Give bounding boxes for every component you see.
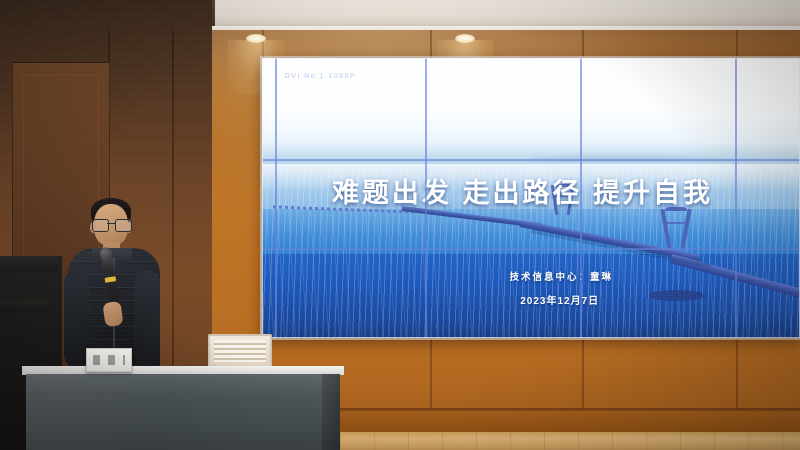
lectern-top: [0, 256, 58, 272]
video-wall-bezel-v1: [275, 58, 277, 338]
ceiling-downlight-2: [455, 34, 475, 43]
slide-title: 难题出发 走出路径 提升自我: [332, 171, 800, 210]
name-card: [86, 348, 132, 372]
chair-backrest: [208, 334, 272, 368]
video-wall-bezel-v2: [425, 58, 427, 338]
lcd-video-wall[interactable]: DVI No.1 1080P 难题出发 走出路径 提升自我 技术信息中心：童琳 …: [262, 58, 800, 338]
slide-bridge-pylon-2: [660, 204, 692, 250]
video-wall-bezel-v3: [580, 58, 582, 338]
table-cloth: [26, 374, 340, 450]
video-wall-bezel-v4: [735, 58, 737, 338]
presentation-slide: DVI No.1 1080P 难题出发 走出路径 提升自我 技术信息中心：童琳 …: [262, 58, 800, 338]
slide-date: 2023年12月7日: [520, 292, 599, 307]
slide-subtitle: 技术信息中心：童琳: [509, 269, 613, 283]
glasses-bridge: [107, 223, 115, 224]
table-right-edge-shadow: [322, 374, 340, 450]
lectern-step: [0, 300, 48, 312]
glasses-icon: [92, 219, 130, 230]
presenter-hand: [102, 301, 123, 327]
ceiling-downlight-1: [246, 34, 266, 43]
chair-slats: [214, 340, 266, 362]
glasses-lens-left: [92, 219, 109, 232]
microphone-band: [105, 276, 117, 283]
head-table: [22, 366, 344, 450]
name-card-text: [93, 355, 125, 365]
glasses-lens-right: [115, 219, 132, 232]
conference-room-screenshot: DVI No.1 1080P 难题出发 走出路径 提升自我 技术信息中心：童琳 …: [0, 0, 800, 450]
video-wall-bezel-h2: [262, 248, 800, 250]
video-wall-bezel-h1: [262, 159, 800, 161]
presenter-arm-right: [134, 270, 160, 368]
display-osd-label: DVI No.1 1080P: [285, 73, 357, 80]
